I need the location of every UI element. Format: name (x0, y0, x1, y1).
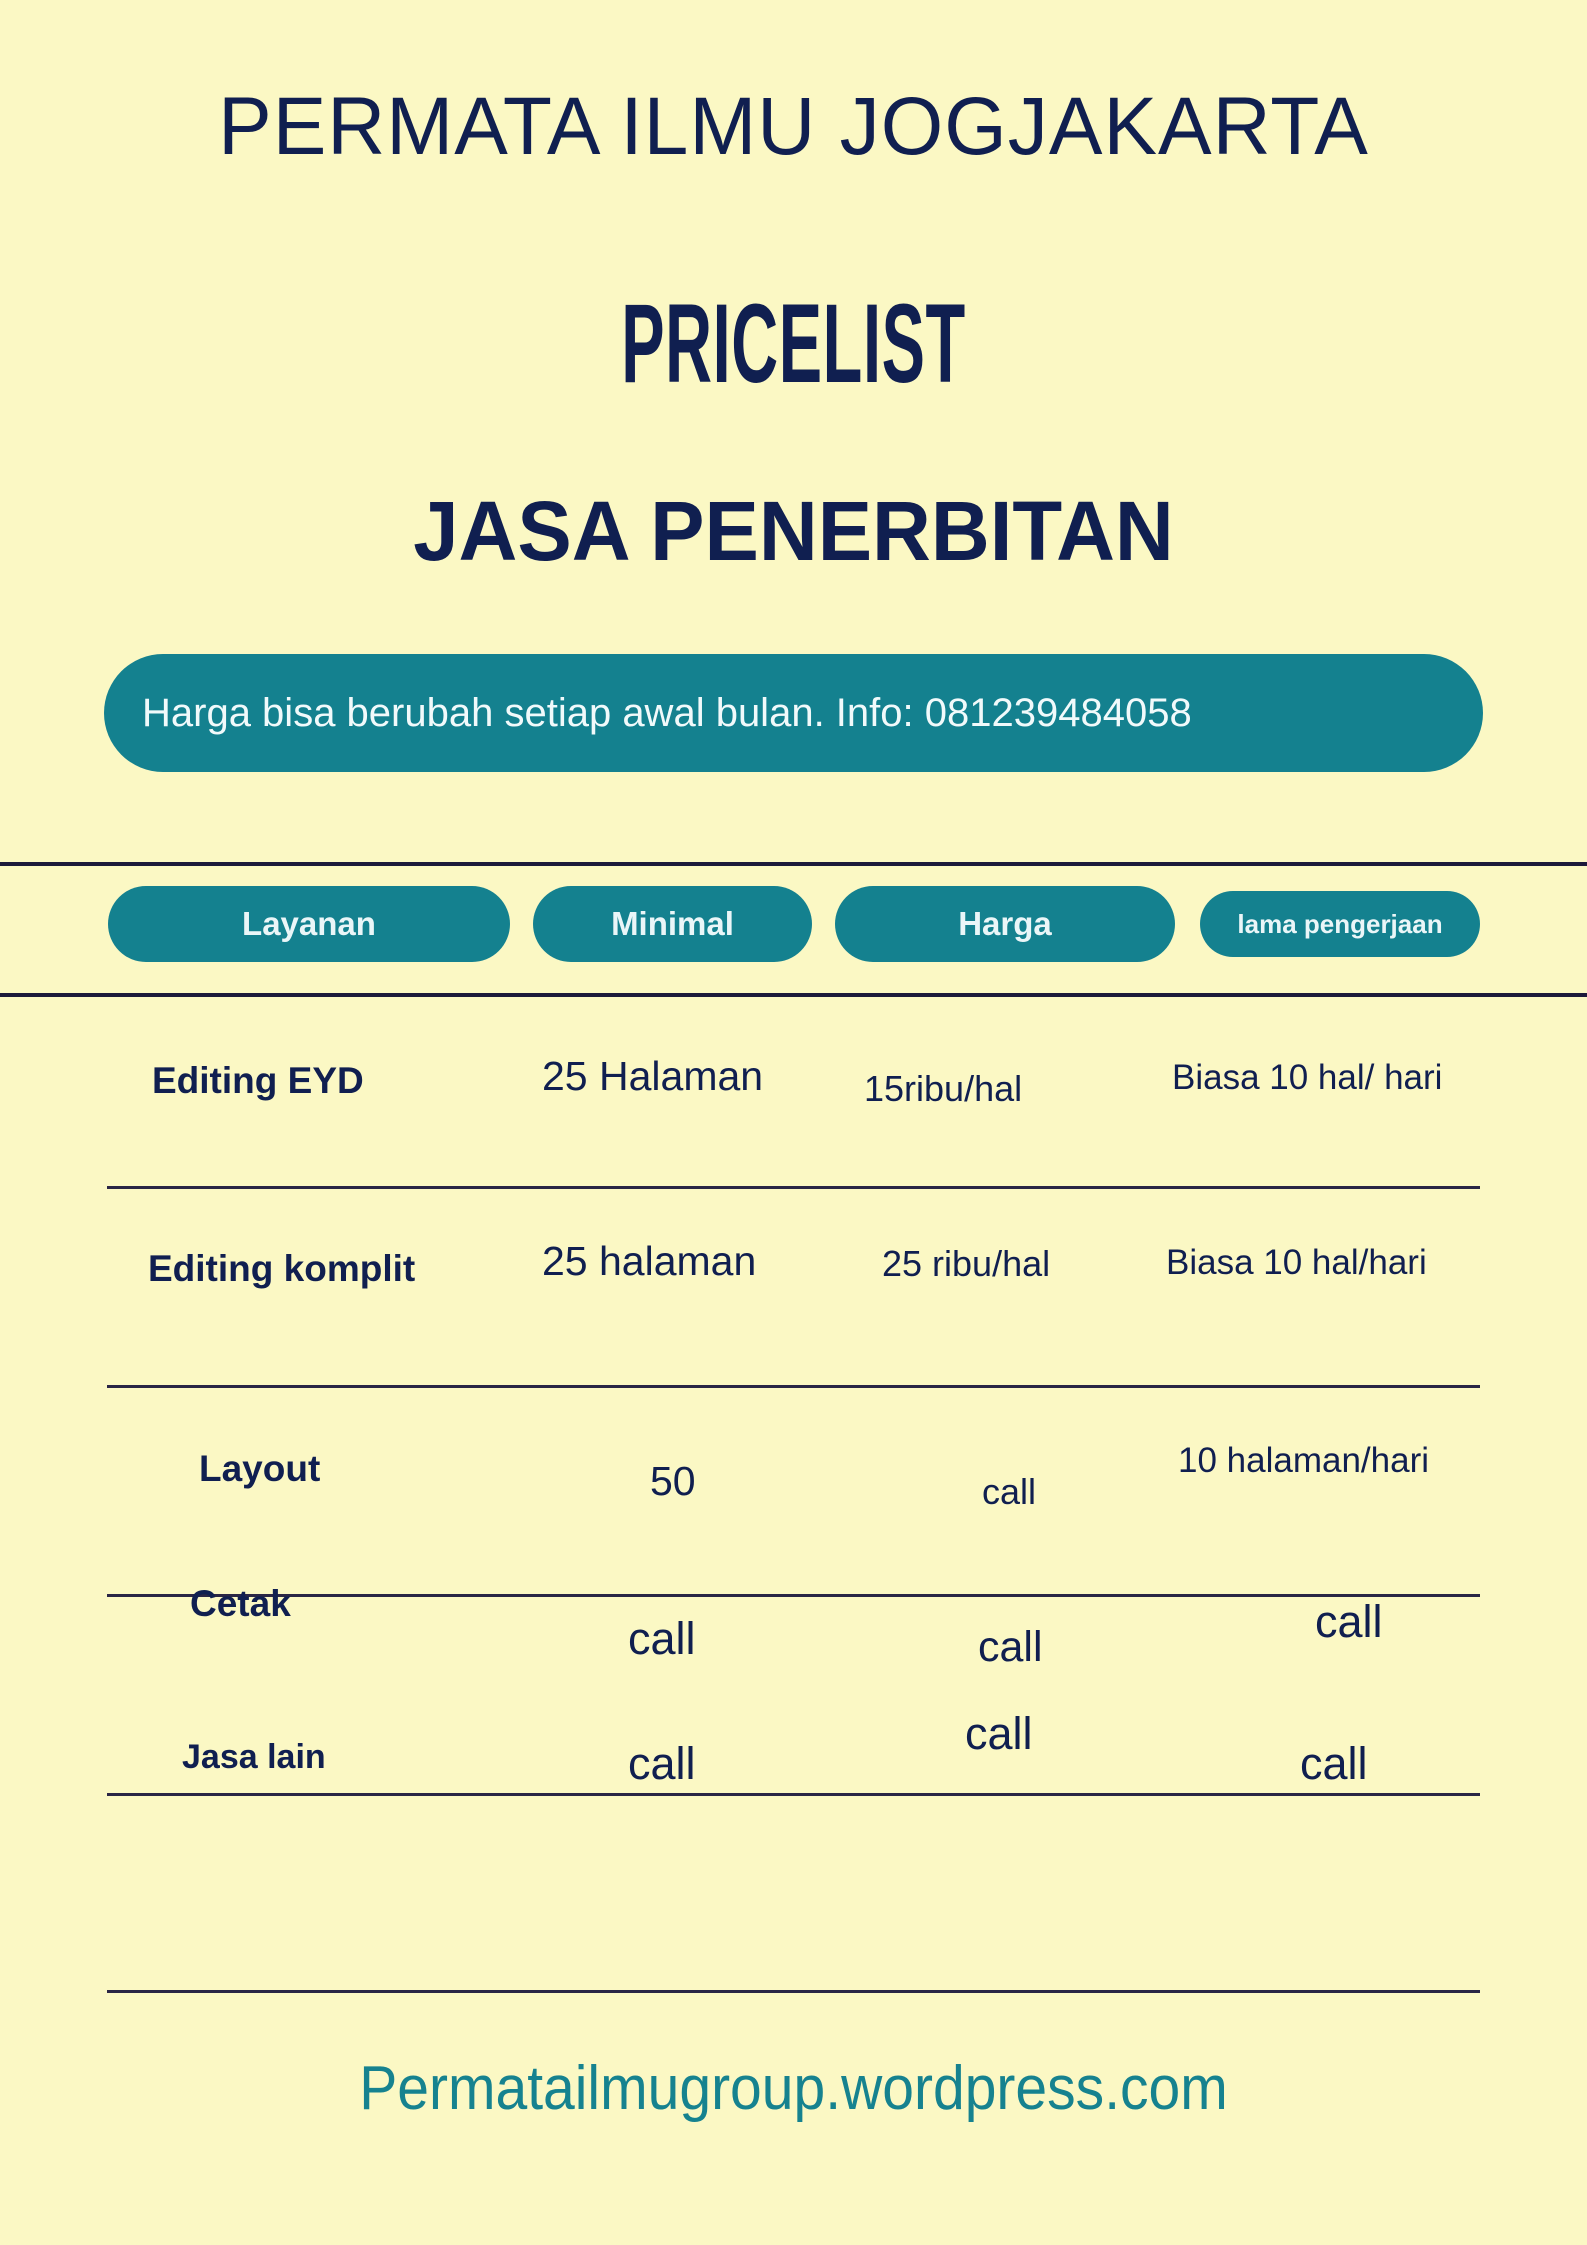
table-cell-minimal: 50 (650, 1460, 696, 1503)
page-title: PRICELIST (333, 288, 1253, 400)
row-divider (107, 1186, 1480, 1189)
pricelist-poster: PERMATA ILMU JOGJAKARTA PRICELIST JASA P… (0, 0, 1587, 2245)
table-top-rule (0, 862, 1587, 866)
table-row: Editing EYD (152, 1062, 364, 1101)
info-banner: Harga bisa berubah setiap awal bulan. In… (104, 654, 1483, 772)
table-cell-harga: call (965, 1710, 1033, 1757)
table-cell-lama: call (1300, 1740, 1368, 1787)
table-row: Layout (199, 1450, 320, 1489)
column-header-layanan: Layanan (108, 886, 510, 962)
table-cell-minimal: call (628, 1740, 696, 1787)
column-header-harga: Harga (835, 886, 1175, 962)
column-header-minimal: Minimal (533, 886, 812, 962)
row-divider (107, 1990, 1480, 1993)
table-cell-harga: call (982, 1473, 1036, 1511)
row-divider (107, 1594, 1480, 1597)
table-cell-harga: 25 ribu/hal (882, 1245, 1050, 1283)
table-cell-lama: Biasa 10 hal/ hari (1172, 1060, 1442, 1097)
table-row: Jasa lain (182, 1740, 326, 1776)
table-cell-minimal: 25 Halaman (542, 1055, 763, 1098)
company-title: PERMATA ILMU JOGJAKARTA (16, 86, 1571, 168)
column-header-lama-pengerjaan: lama pengerjaan (1200, 891, 1480, 957)
table-header-rule (0, 993, 1587, 997)
table-row: Cetak (190, 1585, 291, 1624)
table-cell-minimal: 25 halaman (542, 1240, 756, 1283)
table-cell-harga: call (978, 1625, 1043, 1670)
page-subtitle: JASA PENERBITAN (24, 489, 1563, 573)
table-cell-lama: Biasa 10 hal/hari (1166, 1245, 1427, 1282)
footer-website-link[interactable]: Permatailmugroup.wordpress.com (63, 2058, 1523, 2120)
table-cell-harga: 15ribu/hal (864, 1070, 1022, 1108)
table-row: Editing komplit (148, 1250, 415, 1289)
row-divider (107, 1793, 1480, 1796)
table-cell-minimal: call (628, 1615, 696, 1662)
row-divider (107, 1385, 1480, 1388)
table-cell-lama: 10 halaman/hari (1178, 1443, 1429, 1480)
table-cell-lama: call (1315, 1598, 1383, 1645)
info-banner-text: Harga bisa berubah setiap awal bulan. In… (142, 691, 1192, 735)
